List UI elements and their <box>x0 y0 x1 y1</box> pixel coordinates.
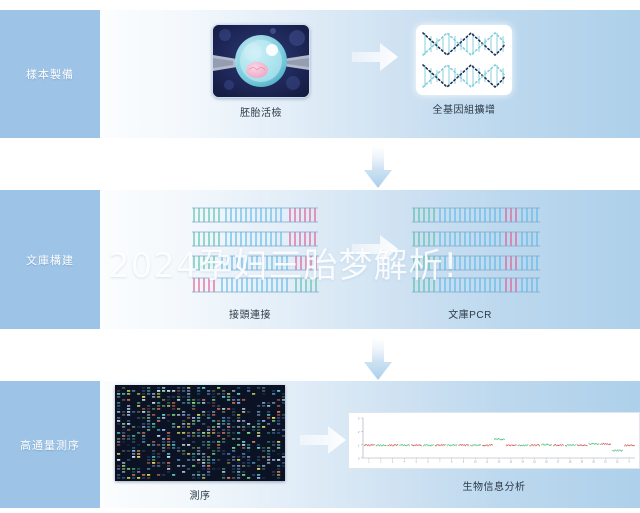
workflow-row-library-construction: 文庫構建 <box>0 190 640 329</box>
workflow-row-sample-prep: 樣本製備 <box>0 10 640 138</box>
dna-fragments-adapter-icon <box>190 204 310 290</box>
stage-library-pcr[interactable]: 文庫PCR <box>410 204 530 321</box>
embryo-biopsy-icon <box>212 24 310 98</box>
row-label-text: 文庫構建 <box>26 252 74 268</box>
arrow-right-icon <box>352 42 398 72</box>
stage-caption-library-pcr: 文庫PCR <box>448 306 492 321</box>
row-label-sample-prep: 樣本製備 <box>0 10 100 138</box>
stage-bioinformatics[interactable]: 012312345678910111213141516171819202122X… <box>348 412 640 493</box>
row-body-sample-prep: 胚胎活檢 <box>100 10 640 138</box>
row-label-library-construction: 文庫構建 <box>0 190 100 329</box>
workflow-row-sequencing: 高通量測序 測序 <box>0 381 640 508</box>
row-body-library-construction: 接頭連接 <box>100 190 640 329</box>
sequencing-raster-icon <box>115 385 285 481</box>
arrow-down-icon <box>363 336 393 380</box>
arrow-right-icon <box>300 425 346 455</box>
stage-caption-wga: 全基因組擴增 <box>433 101 496 116</box>
stage-adapter-ligation[interactable]: 接頭連接 <box>190 204 310 321</box>
stage-caption-adapter-ligation: 接頭連接 <box>229 306 271 321</box>
stage-caption-sequencing: 測序 <box>190 487 211 502</box>
arrow-down-icon <box>363 144 393 188</box>
dna-helix-icon <box>416 25 512 95</box>
row-label-text: 樣本製備 <box>26 66 74 82</box>
row-label-sequencing: 高通量測序 <box>0 381 100 508</box>
stage-sequencing[interactable]: 測序 <box>115 385 285 502</box>
row-label-text: 高通量測序 <box>20 437 80 453</box>
workflow-diagram: 樣本製備 <box>0 0 640 513</box>
arrow-right-icon <box>352 234 398 264</box>
cnv-plot-icon: 012312345678910111213141516171819202122X <box>348 412 640 469</box>
stage-wga[interactable]: 全基因組擴增 <box>416 25 512 116</box>
row-body-sequencing: 測序 012 <box>100 381 640 508</box>
stage-caption-embryo-biopsy: 胚胎活檢 <box>240 104 282 119</box>
dna-fragments-pcr-icon <box>410 204 530 290</box>
stage-caption-bioinformatics: 生物信息分析 <box>463 478 526 493</box>
stage-embryo-biopsy[interactable]: 胚胎活檢 <box>212 24 310 119</box>
